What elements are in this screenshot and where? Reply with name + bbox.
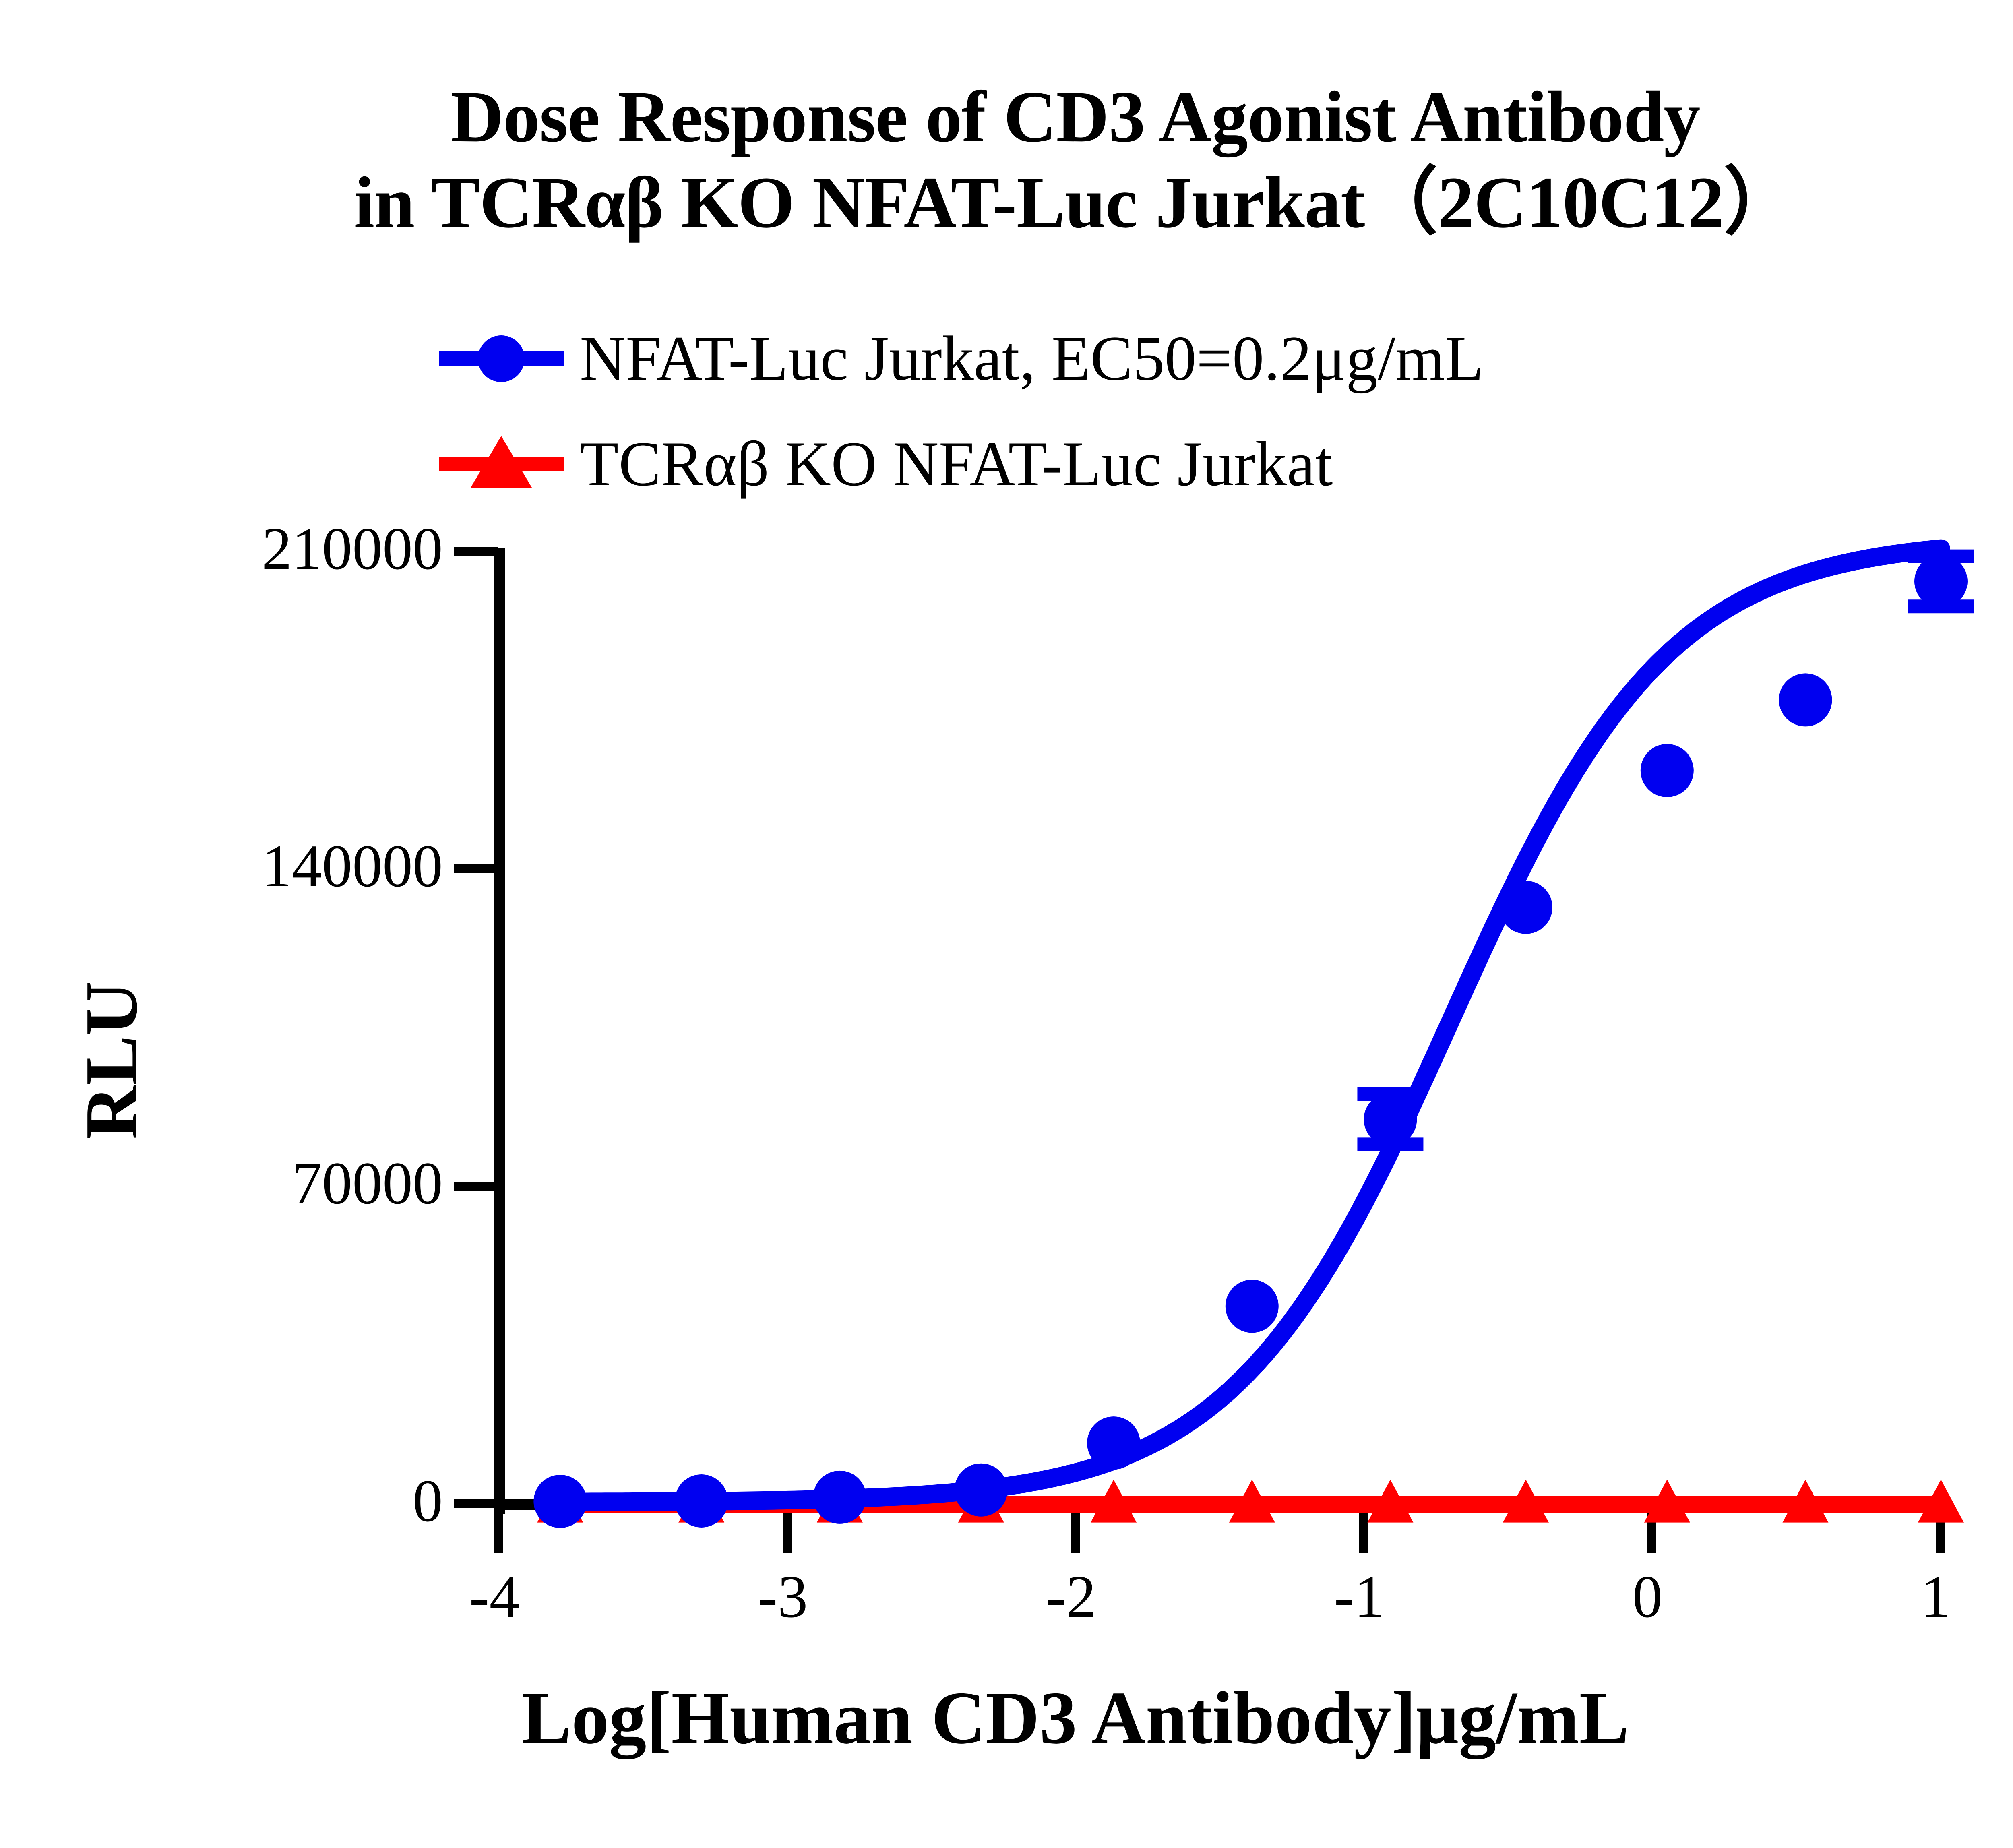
x-tick-mark — [1647, 1509, 1656, 1553]
y-tick-mark — [454, 864, 498, 873]
x-tick-mark — [783, 1509, 792, 1553]
series-nfat-luc — [533, 549, 1974, 1528]
y-axis-title: RLU — [68, 981, 155, 1139]
legend-label-red: TCRαβ KO NFAT-Luc Jurkat — [564, 432, 1333, 496]
legend-item-nfat-luc-jurkat[interactable]: NFAT-Luc Jurkat, EC50=0.2μg/mL — [439, 306, 2013, 411]
y-axis-line — [494, 548, 505, 1514]
legend-key-blue — [439, 318, 564, 399]
x-tick-mark — [1936, 1509, 1945, 1553]
x-tick-label-neg1: -1 — [1263, 1562, 1456, 1631]
y-tick-mark — [454, 1499, 498, 1508]
x-tick-mark — [1071, 1509, 1080, 1553]
y-tick-label-0: 0 — [0, 1466, 443, 1536]
y-tick-label-70000: 70000 — [0, 1149, 443, 1218]
x-tick-mark — [1359, 1509, 1368, 1553]
x-tick-label-neg3: -3 — [686, 1562, 879, 1631]
x-axis-title: Log[Human CD3 Antibody]μg/mL — [0, 1675, 2013, 1761]
legend-key-red — [439, 424, 564, 504]
chart-title: Dose Response of CD3 Agonist Antibody in… — [0, 74, 2013, 246]
y-tick-label-140000: 140000 — [0, 831, 443, 901]
y-tick-label-210000: 210000 — [0, 514, 443, 583]
legend-item-tcr-ko-nfat-luc-jurkat[interactable]: TCRαβ KO NFAT-Luc Jurkat — [439, 411, 2013, 517]
triangle-marker-icon — [471, 436, 532, 488]
chart-title-line-1: Dose Response of CD3 Agonist Antibody — [0, 74, 2013, 160]
x-tick-mark — [494, 1509, 503, 1553]
x-tick-label-1: 1 — [1839, 1562, 2013, 1631]
x-tick-label-neg2: -2 — [974, 1562, 1168, 1631]
y-tick-mark — [454, 1182, 498, 1191]
y-tick-mark — [454, 547, 498, 556]
x-axis-line — [494, 1499, 1944, 1510]
chart-title-line-2: in TCRαβ KO NFAT-Luc Jurkat（2C10C12） — [0, 160, 2013, 246]
circle-marker-icon — [478, 335, 525, 382]
chart-figure: Dose Response of CD3 Agonist Antibody in… — [0, 0, 2013, 1848]
chart-legend: NFAT-Luc Jurkat, EC50=0.2μg/mL TCRαβ KO … — [439, 306, 2013, 517]
legend-label-blue: NFAT-Luc Jurkat, EC50=0.2μg/mL — [564, 327, 1484, 391]
x-tick-label-neg4: -4 — [398, 1562, 591, 1631]
x-tick-label-0: 0 — [1551, 1562, 1744, 1631]
